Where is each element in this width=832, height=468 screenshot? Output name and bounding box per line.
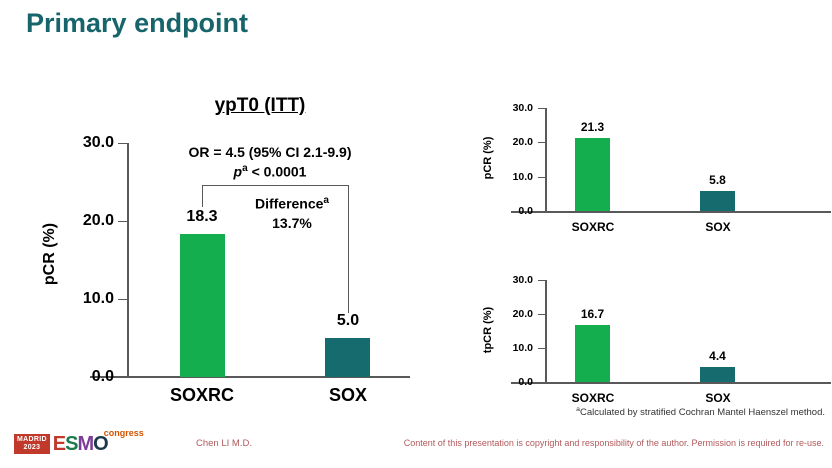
bar-soxrc	[180, 234, 225, 377]
bar-value-sox: 5.0	[308, 312, 388, 330]
footnote-text: Calculated by stratified Cochran Mantel …	[580, 407, 825, 418]
bar-sox	[700, 191, 735, 211]
x-category-soxrc: SOXRC	[543, 391, 643, 405]
bar-sox	[325, 338, 370, 377]
y-tick-30	[538, 108, 545, 109]
chart-ypt0n0-itt: ypT0N0 (ITT) 30.0 20.0 10.0 0.0 tpCR (%)…	[455, 252, 832, 427]
y-tick-20	[538, 142, 545, 143]
footnote: aCalculated by stratified Cochran Mantel…	[480, 406, 825, 418]
bar-value-soxrc: 16.7	[560, 307, 625, 321]
annotation-difference-label: Differencea	[212, 194, 372, 214]
annotation-or-p: OR = 4.5 (95% CI 2.1-9.9) pa < 0.0001	[150, 143, 390, 181]
y-tick-label-20: 20.0	[493, 308, 533, 320]
x-category-sox: SOX	[668, 220, 768, 234]
annotation-p-value: pa < 0.0001	[150, 162, 390, 182]
y-axis-line	[127, 143, 129, 377]
x-category-sox: SOX	[288, 385, 408, 406]
x-axis-line	[511, 211, 831, 213]
esmo-logo-wordmark: ESMO	[53, 434, 108, 454]
annotation-p-text: < 0.0001	[248, 164, 307, 180]
difference-label-sup: a	[323, 195, 329, 206]
y-tick-10	[538, 177, 545, 178]
y-tick-20	[118, 221, 127, 222]
y-tick-label-30: 30.0	[493, 102, 533, 114]
y-tick-10	[538, 348, 545, 349]
bar-soxrc	[575, 138, 610, 211]
chart-ypt0-surgery-set: ypT0 (Surgery set) 30.0 20.0 10.0 0.0 pC…	[455, 80, 832, 240]
x-category-soxrc: SOXRC	[142, 385, 262, 406]
y-tick-0	[118, 377, 127, 378]
esmo-logo-madrid-badge: MADRID 2023	[14, 434, 50, 454]
esmo-logo-letter-e: E	[53, 433, 65, 455]
esmo-logo-congress-text: congress	[104, 429, 144, 438]
y-axis-line	[545, 108, 547, 212]
difference-bracket-left	[202, 185, 203, 207]
y-tick-label-10: 10.0	[493, 342, 533, 354]
x-axis-line	[511, 382, 831, 384]
difference-label-text: Difference	[255, 196, 323, 212]
y-axis-line	[545, 280, 547, 383]
y-tick-label-0: 0.0	[493, 205, 533, 217]
chart-ypt0-itt: ypT0 (ITT) 30.0 20.0 10.0 0.0 pCR (%) 18…	[0, 0, 450, 420]
copyright-notice: Content of this presentation is copyrigh…	[404, 438, 824, 448]
y-tick-0	[538, 211, 545, 212]
bar-value-soxrc: 21.3	[560, 120, 625, 134]
y-tick-label-0: 0.0	[493, 376, 533, 388]
y-tick-label-20: 20.0	[66, 212, 114, 230]
y-tick-label-30: 30.0	[66, 134, 114, 152]
esmo-logo-letter-s: S	[65, 433, 77, 455]
esmo-logo: MADRID 2023 ESMO congress	[14, 430, 144, 454]
y-tick-30	[118, 143, 127, 144]
presenter-name: Chen LI M.D.	[196, 438, 252, 449]
y-tick-label-0: 0.0	[66, 368, 114, 386]
y-tick-label-10: 10.0	[493, 171, 533, 183]
esmo-logo-city: MADRID	[17, 436, 47, 444]
esmo-logo-year: 2023	[17, 444, 47, 452]
annotation-difference-value: 13.7%	[212, 214, 372, 233]
bar-sox	[700, 367, 735, 382]
esmo-logo-letter-m: M	[77, 433, 93, 455]
y-axis-label: tpCR (%)	[482, 293, 494, 367]
bar-soxrc	[575, 325, 610, 382]
annotation-or-text: OR = 4.5 (95% CI 2.1-9.9)	[150, 143, 390, 162]
y-axis-label: pCR (%)	[482, 123, 494, 193]
bar-value-sox: 5.8	[685, 173, 750, 187]
x-category-sox: SOX	[668, 391, 768, 405]
annotation-p-prefix: p	[234, 164, 243, 180]
bar-value-sox: 4.4	[685, 349, 750, 363]
difference-bracket-top	[202, 185, 349, 186]
chart-title-ypt0-itt: ypT0 (ITT)	[120, 95, 400, 117]
y-tick-20	[538, 314, 545, 315]
y-tick-30	[538, 280, 545, 281]
y-axis-label: pCR (%)	[41, 209, 59, 299]
x-category-soxrc: SOXRC	[543, 220, 643, 234]
y-tick-0	[538, 382, 545, 383]
y-tick-label-10: 10.0	[66, 290, 114, 308]
y-tick-label-30: 30.0	[493, 274, 533, 286]
annotation-difference: Differencea 13.7%	[212, 194, 372, 232]
y-tick-10	[118, 299, 127, 300]
y-tick-label-20: 20.0	[493, 136, 533, 148]
